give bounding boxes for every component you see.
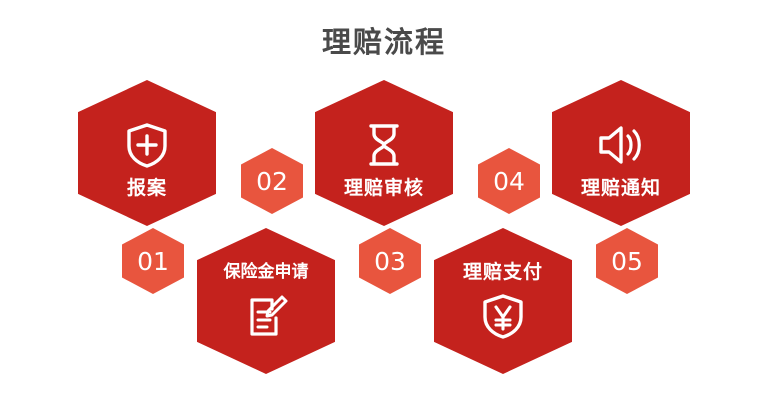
step-hexagon-2[interactable]: 保险金申请 [197, 228, 335, 374]
shield-plus-icon [121, 119, 173, 171]
step-1-label: 报案 [127, 176, 167, 200]
step-badge-4-number: 04 [493, 169, 525, 194]
step-badge-5[interactable]: 05 [596, 228, 658, 294]
document-edit-icon [240, 290, 292, 342]
step-3-content: 理赔审核 [315, 80, 453, 232]
step-badge-4[interactable]: 04 [478, 148, 540, 214]
step-badge-1[interactable]: 01 [122, 228, 184, 294]
infographic-canvas: 理赔流程 报案 保险金申请 [0, 0, 768, 400]
step-badge-3[interactable]: 03 [359, 228, 421, 294]
step-5-label: 理赔通知 [581, 176, 661, 200]
step-2-label: 保险金申请 [224, 260, 309, 284]
step-hexagon-3[interactable]: 理赔审核 [315, 80, 453, 226]
step-4-content: 理赔支付 [434, 228, 572, 376]
step-badge-5-number: 05 [611, 249, 643, 274]
step-hexagon-4[interactable]: 理赔支付 [434, 228, 572, 374]
step-5-content: 理赔通知 [552, 80, 690, 232]
step-1-content: 报案 [78, 80, 216, 232]
hourglass-icon [358, 119, 410, 171]
shield-yuan-icon [477, 290, 529, 342]
step-hexagon-1[interactable]: 报案 [78, 80, 216, 226]
step-3-label: 理赔审核 [344, 176, 424, 200]
step-4-label: 理赔支付 [463, 260, 543, 284]
step-hexagon-5[interactable]: 理赔通知 [552, 80, 690, 226]
step-badge-2-number: 02 [256, 169, 288, 194]
step-badge-2[interactable]: 02 [241, 148, 303, 214]
step-2-content: 保险金申请 [197, 228, 335, 376]
step-badge-1-number: 01 [137, 249, 169, 274]
step-badge-3-number: 03 [374, 249, 406, 274]
page-title: 理赔流程 [0, 22, 768, 62]
speaker-icon [595, 119, 647, 171]
